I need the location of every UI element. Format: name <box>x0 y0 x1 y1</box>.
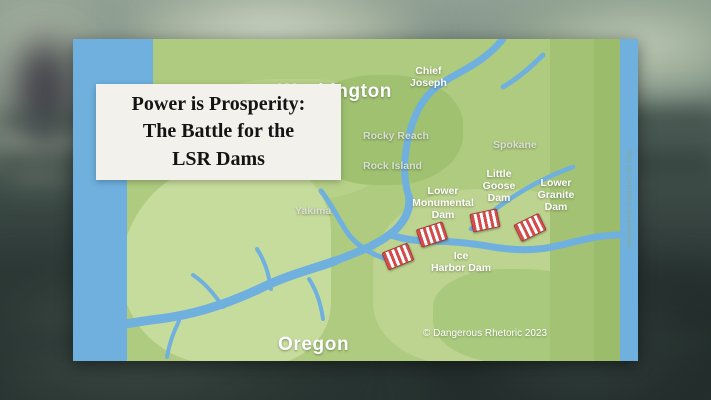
screenshot-stage: Washington Oregon Chief Joseph Rocky Rea… <box>0 0 711 400</box>
presentation-slide: Washington Oregon Chief Joseph Rocky Rea… <box>73 39 638 361</box>
background-blur-blob <box>10 35 80 155</box>
copyright-notice: © Dangerous Rhetoric 2023 <box>423 328 547 339</box>
slide-title-card: Power is Prosperity: The Battle for the … <box>96 84 341 180</box>
title-line-3: LSR Dams <box>172 146 265 174</box>
title-line-1: Power is Prosperity: <box>132 91 306 119</box>
map-credit-vertical: Map by Columbia Riverkeeper <box>625 149 632 249</box>
title-line-2: The Battle for the <box>143 118 294 146</box>
